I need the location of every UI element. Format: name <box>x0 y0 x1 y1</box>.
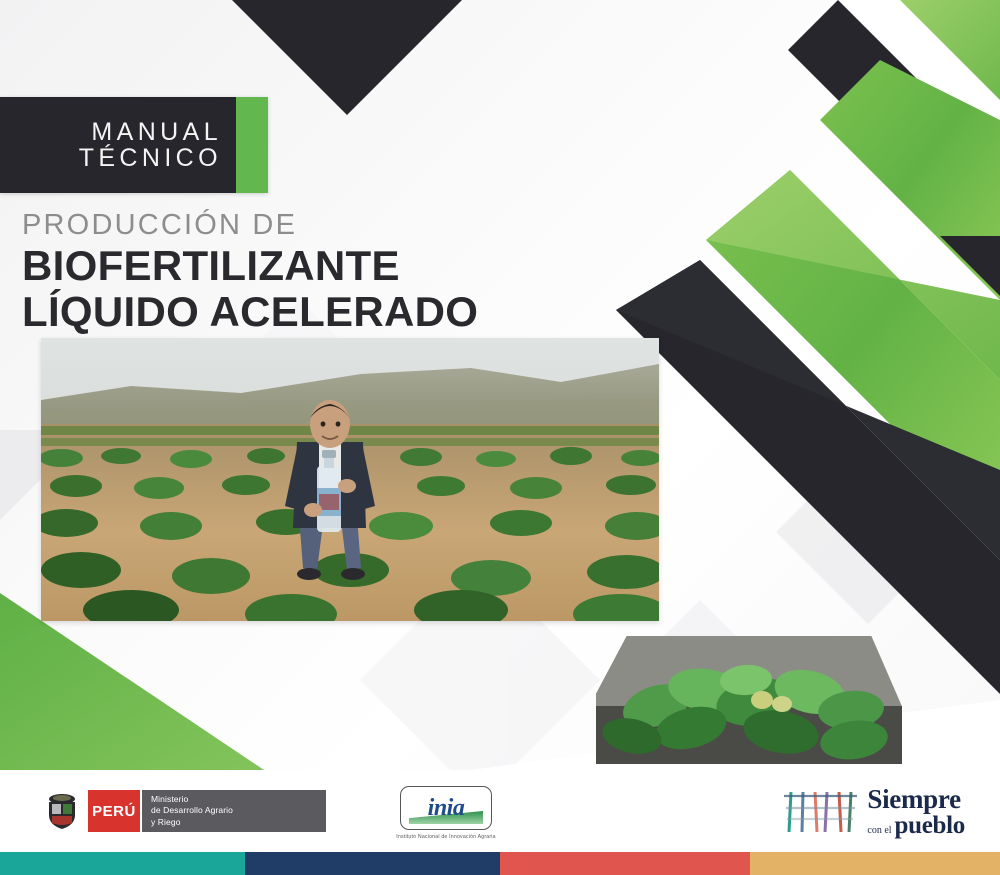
inia-wordmark: inia <box>428 796 465 820</box>
pretitle: PRODUCCIÓN DE <box>22 207 478 243</box>
title-line-2: LÍQUIDO ACELERADO <box>22 289 478 334</box>
ministry-name-block: Ministerio de Desarrollo Agrario y Riego <box>140 790 326 832</box>
peru-coat-of-arms-icon <box>44 791 80 831</box>
manual-tecnico-badge: MANUAL TÉCNICO <box>0 97 268 193</box>
cover-title-block: PRODUCCIÓN DE BIOFERTILIZANTE LÍQUIDO AC… <box>22 207 478 334</box>
secondary-photo-plant <box>596 636 902 764</box>
main-photo-art <box>41 338 659 621</box>
ministry-line-1: Ministerio <box>151 794 326 805</box>
siempre-line-2-big: pueblo <box>895 813 965 838</box>
siempre-wordmark: Siempre con el pueblo <box>867 786 965 838</box>
title-line-1: BIOFERTILIZANTE <box>22 243 478 288</box>
siempre-line-2-small: con el <box>867 826 891 836</box>
footer: PERÚ Ministerio de Desarrollo Agrario y … <box>0 770 1000 875</box>
siempre-con-el-pueblo-logo: Siempre con el pueblo <box>781 786 965 838</box>
peru-wordmark: PERÚ <box>88 790 140 832</box>
ministry-line-2: de Desarrollo Agrario <box>151 805 326 816</box>
footer-logo-row: PERÚ Ministerio de Desarrollo Agrario y … <box>0 770 1000 852</box>
inia-logo: inia Instituto Nacional de Innovación Ag… <box>383 786 509 840</box>
badge-dark-panel: MANUAL TÉCNICO <box>0 97 236 193</box>
badge-line-manual: MANUAL <box>91 119 222 145</box>
secondary-photo-art <box>596 636 902 764</box>
siempre-tally-marks-icon <box>781 786 859 838</box>
color-bar-segment-teal <box>0 852 245 875</box>
main-photo-farmer-field <box>41 338 659 621</box>
siempre-line-2: con el pueblo <box>867 813 965 838</box>
bottom-color-bar <box>0 852 1000 875</box>
color-bar-segment-red <box>500 852 750 875</box>
color-bar-segment-gold <box>750 852 1000 875</box>
color-bar-segment-navy <box>245 852 500 875</box>
inia-subtitle: Instituto Nacional de Innovación Agraria <box>383 834 509 840</box>
badge-green-accent <box>236 97 268 193</box>
peru-ministry-logo: PERÚ Ministerio de Desarrollo Agrario y … <box>44 790 326 832</box>
chevron-dark-notch <box>940 236 1000 296</box>
badge-line-tecnico: TÉCNICO <box>79 145 222 171</box>
inia-logo-box: inia <box>400 786 492 830</box>
ministry-line-3: y Riego <box>151 817 326 828</box>
cover-page: MANUAL TÉCNICO PRODUCCIÓN DE BIOFERTILIZ… <box>0 0 1000 875</box>
siempre-line-1: Siempre <box>867 786 965 813</box>
